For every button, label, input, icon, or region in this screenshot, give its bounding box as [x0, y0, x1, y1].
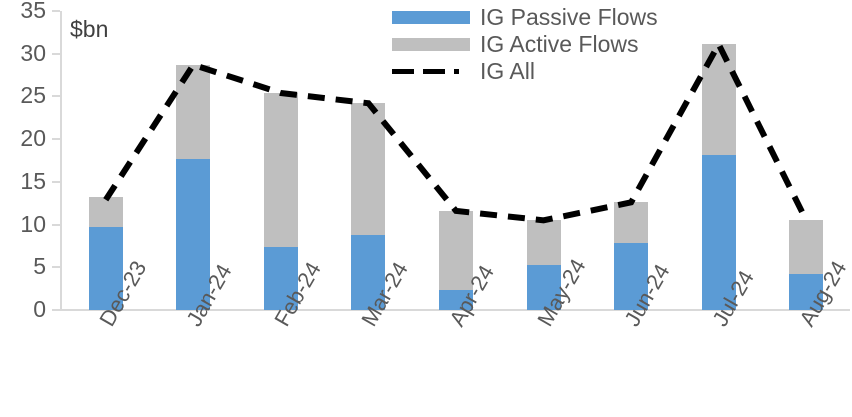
y-axis-tick-mark — [52, 53, 60, 55]
y-axis-tick-mark — [52, 266, 60, 268]
y-axis-tick-label: 20 — [2, 127, 46, 150]
legend-label-passive: IG Passive Flows — [480, 6, 658, 29]
y-axis-tick-label: 0 — [2, 298, 46, 321]
y-axis: 35302520151050 — [0, 0, 46, 417]
y-axis-tick-label: 25 — [2, 84, 46, 107]
chart-container: 35302520151050 $bn Dec-23Jan-24Feb-24Mar… — [0, 0, 852, 417]
legend-label-active: IG Active Flows — [480, 33, 638, 56]
y-axis-tick-label: 10 — [2, 213, 46, 236]
y-axis-tick-mark — [52, 95, 60, 97]
chart-legend: IG Passive Flows IG Active Flows IG All — [392, 4, 692, 85]
legend-item-ig-active-flows[interactable]: IG Active Flows — [392, 31, 692, 58]
y-axis-tick-mark — [52, 138, 60, 140]
legend-swatch-icon-passive — [392, 4, 470, 31]
legend-item-ig-passive-flows[interactable]: IG Passive Flows — [392, 4, 692, 31]
y-axis-tick-label: 5 — [2, 255, 46, 278]
y-axis-tick-mark — [52, 224, 60, 226]
y-axis-tick-mark — [52, 10, 60, 12]
y-axis-tick-mark — [52, 309, 60, 311]
x-axis-labels: Dec-23Jan-24Feb-24Mar-24Apr-24May-24Jun-… — [62, 313, 850, 417]
y-axis-tick-mark — [52, 181, 60, 183]
legend-label-ig-all: IG All — [480, 60, 535, 83]
y-axis-tick-label: 30 — [2, 42, 46, 65]
legend-swatch-icon-active — [392, 31, 470, 58]
legend-item-ig-all[interactable]: IG All — [392, 58, 692, 85]
legend-dashed-line-icon — [392, 58, 470, 85]
y-axis-tick-label: 35 — [2, 0, 46, 22]
y-axis-tick-label: 15 — [2, 170, 46, 193]
